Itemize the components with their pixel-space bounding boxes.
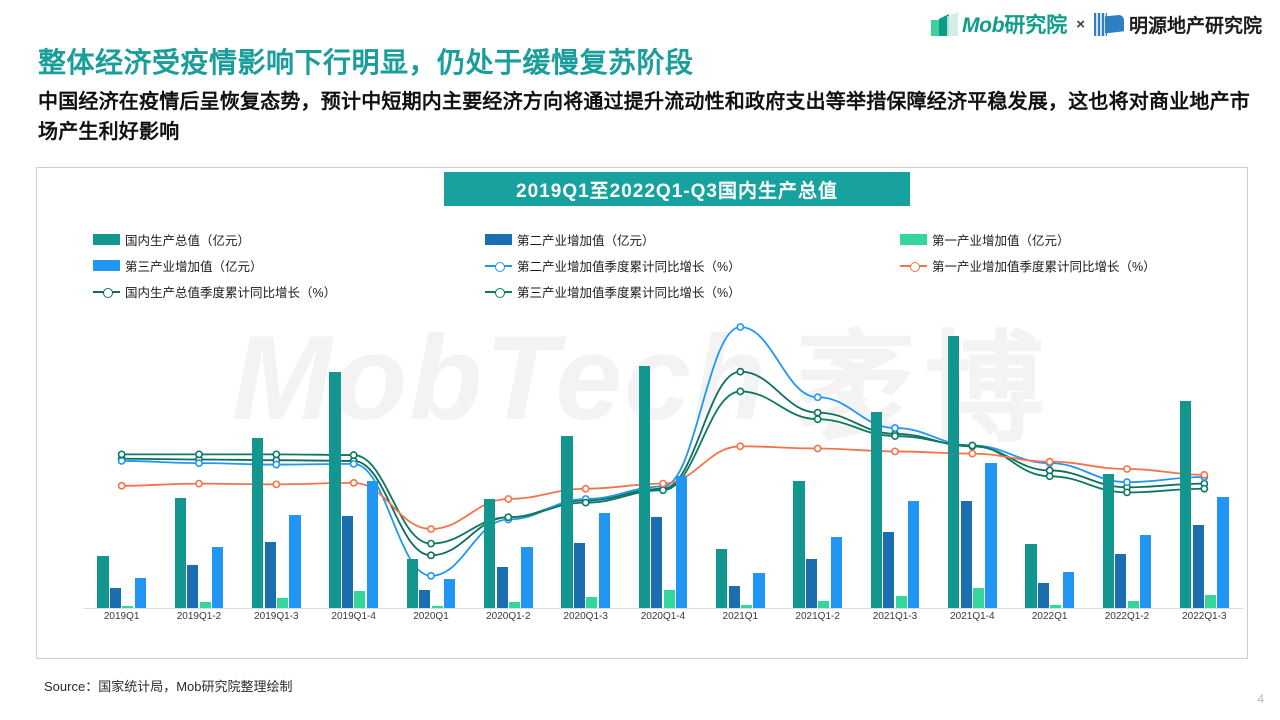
- brand-separator: ×: [1076, 16, 1085, 33]
- bar-2-0: [122, 606, 133, 608]
- legend-line-marker-icon: [93, 286, 120, 297]
- bar-3-3: [367, 481, 378, 608]
- bar-2-5: [509, 602, 520, 608]
- bar-2-12: [1050, 605, 1061, 608]
- legend-item-secondary-bar[interactable]: 第二产业增加值（亿元）: [485, 230, 900, 249]
- bar-0-5: [484, 499, 495, 608]
- line-marker-1-9: [815, 394, 821, 400]
- bar-2-7: [664, 590, 675, 609]
- bar-0-1: [175, 498, 186, 608]
- x-axis-label-7: 2020Q1-4: [624, 611, 701, 622]
- bar-1-14: [1193, 525, 1204, 608]
- bar-2-4: [432, 606, 443, 608]
- bar-2-9: [818, 601, 829, 608]
- bar-2-14: [1205, 595, 1216, 608]
- line-series-1: [122, 327, 1205, 576]
- line-marker-3-8: [737, 443, 743, 449]
- line-marker-1-10: [892, 425, 898, 431]
- bar-2-10: [896, 596, 907, 608]
- x-axis-label-12: 2022Q1: [1011, 611, 1088, 622]
- line-marker-0-9: [815, 410, 821, 416]
- line-marker-2-11: [969, 442, 975, 448]
- line-marker-2-5: [505, 514, 511, 520]
- x-axis-label-11: 2021Q1-4: [934, 611, 1011, 622]
- page-number: 4: [1257, 692, 1264, 706]
- bar-0-9: [793, 481, 804, 608]
- legend-label: 第三产业增加值（亿元）: [125, 256, 263, 275]
- legend-item-primary-bar[interactable]: 第一产业增加值（亿元）: [900, 230, 1235, 249]
- chart-legend: 国内生产总值（亿元） 第二产业增加值（亿元） 第一产业增加值（亿元） 第三产业增…: [55, 230, 1235, 301]
- line-marker-3-2: [273, 481, 279, 487]
- legend-label: 第一产业增加值（亿元）: [932, 230, 1070, 249]
- bar-3-6: [599, 513, 610, 608]
- line-marker-3-3: [351, 480, 357, 486]
- legend-label: 国内生产总值（亿元）: [125, 230, 250, 249]
- bar-0-12: [1025, 544, 1036, 608]
- mingyuan-logo: 明源地产研究院: [1094, 11, 1262, 38]
- legend-swatch-icon: [93, 234, 120, 245]
- line-marker-2-13: [1124, 489, 1130, 495]
- line-marker-1-2: [273, 461, 279, 467]
- legend-swatch-icon: [485, 234, 512, 245]
- bar-1-12: [1038, 583, 1049, 608]
- line-marker-3-10: [892, 448, 898, 454]
- line-marker-3-6: [583, 486, 589, 492]
- line-marker-3-4: [428, 526, 434, 532]
- line-marker-1-13: [1124, 479, 1130, 485]
- bar-1-3: [342, 516, 353, 608]
- bar-1-4: [419, 590, 430, 608]
- legend-item-tertiary-bar[interactable]: 第三产业增加值（亿元）: [55, 256, 485, 275]
- line-marker-2-9: [815, 416, 821, 422]
- chart-baseline: [83, 608, 1243, 609]
- x-axis-label-10: 2021Q1-3: [856, 611, 933, 622]
- legend-label: 第三产业增加值季度累计同比增长（%）: [517, 282, 741, 301]
- bar-3-2: [289, 515, 300, 608]
- bar-1-9: [806, 559, 817, 608]
- legend-label: 第一产业增加值季度累计同比增长（%）: [932, 256, 1156, 275]
- line-marker-2-7: [660, 487, 666, 493]
- line-marker-1-0: [119, 458, 125, 464]
- line-marker-2-4: [428, 541, 434, 547]
- x-axis-label-1: 2019Q1-2: [160, 611, 237, 622]
- line-marker-1-8: [737, 324, 743, 330]
- bar-3-4: [444, 579, 455, 608]
- chart-title-banner: 2019Q1至2022Q1-Q3国内生产总值: [444, 172, 910, 206]
- legend-label: 国内生产总值季度累计同比增长（%）: [125, 282, 336, 301]
- bar-0-6: [561, 436, 572, 608]
- bar-1-13: [1115, 554, 1126, 608]
- legend-label: 第二产业增加值（亿元）: [517, 230, 655, 249]
- bar-0-2: [252, 438, 263, 608]
- bar-0-10: [871, 412, 882, 608]
- line-marker-0-8: [737, 369, 743, 375]
- x-axis-label-0: 2019Q1: [83, 611, 160, 622]
- legend-item-primary-line[interactable]: 第一产业增加值季度累计同比增长（%）: [900, 256, 1235, 275]
- brand-header: Mob研究院 × 明源地产研究院: [931, 8, 1262, 40]
- bar-3-0: [135, 578, 146, 608]
- bar-3-11: [985, 463, 996, 608]
- bar-0-14: [1180, 401, 1191, 608]
- legend-item-gdp-line[interactable]: 国内生产总值季度累计同比增长（%）: [55, 282, 485, 301]
- line-marker-2-2: [273, 451, 279, 457]
- x-axis-label-8: 2021Q1: [702, 611, 779, 622]
- line-marker-3-12: [1047, 459, 1053, 465]
- line-marker-1-3: [351, 461, 357, 467]
- bar-2-13: [1128, 601, 1139, 608]
- bar-1-2: [265, 542, 276, 608]
- x-axis-label-4: 2020Q1: [392, 611, 469, 622]
- line-marker-3-5: [505, 496, 511, 502]
- line-marker-2-8: [737, 388, 743, 394]
- mob-bar-chart-icon: [931, 12, 958, 36]
- bar-2-3: [354, 591, 365, 608]
- bar-0-8: [716, 549, 727, 608]
- source-note: Source：国家统计局，Mob研究院整理绘制: [44, 676, 292, 695]
- legend-item-tertiary-line[interactable]: 第三产业增加值季度累计同比增长（%）: [485, 282, 900, 301]
- bar-1-6: [574, 543, 585, 608]
- line-marker-1-4: [428, 573, 434, 579]
- page-title: 整体经济受疫情影响下行明显，仍处于缓慢复苏阶段: [38, 41, 694, 81]
- bar-2-8: [741, 605, 752, 608]
- line-marker-0-4: [428, 552, 434, 558]
- bar-3-7: [676, 476, 687, 608]
- x-axis-label-9: 2021Q1-2: [779, 611, 856, 622]
- line-series-2: [122, 391, 1205, 543]
- line-marker-3-7: [660, 481, 666, 487]
- x-axis-label-14: 2022Q1-3: [1166, 611, 1243, 622]
- bar-1-1: [187, 565, 198, 608]
- legend-label: 第二产业增加值季度累计同比增长（%）: [517, 256, 741, 275]
- partner-logo-text: 明源地产研究院: [1129, 11, 1262, 38]
- bar-0-3: [329, 372, 340, 608]
- bar-2-1: [200, 602, 211, 608]
- bar-3-14: [1217, 497, 1228, 608]
- legend-line-marker-icon: [485, 260, 512, 271]
- legend-line-marker-icon: [900, 260, 927, 271]
- line-marker-3-9: [815, 445, 821, 451]
- x-axis-label-3: 2019Q1-4: [315, 611, 392, 622]
- bar-0-0: [97, 556, 108, 608]
- x-axis-label-13: 2022Q1-2: [1088, 611, 1165, 622]
- x-axis-label-5: 2020Q1-2: [470, 611, 547, 622]
- line-marker-2-3: [351, 452, 357, 458]
- line-marker-2-12: [1047, 473, 1053, 479]
- mob-logo-text: Mob研究院: [962, 9, 1067, 39]
- bar-2-11: [973, 588, 984, 608]
- bar-1-5: [497, 567, 508, 608]
- bar-3-13: [1140, 535, 1151, 608]
- line-marker-3-1: [196, 481, 202, 487]
- bar-1-11: [961, 501, 972, 608]
- book-stack-icon: [1094, 12, 1124, 37]
- line-marker-3-13: [1124, 466, 1130, 472]
- chart-x-axis: 2019Q12019Q1-22019Q1-32019Q1-42020Q12020…: [83, 611, 1243, 631]
- bar-3-8: [753, 573, 764, 608]
- bar-0-11: [948, 336, 959, 608]
- legend-item-secondary-line[interactable]: 第二产业增加值季度累计同比增长（%）: [485, 256, 900, 275]
- bar-3-10: [908, 501, 919, 608]
- bar-3-5: [521, 547, 532, 608]
- bar-1-8: [729, 586, 740, 608]
- bar-1-0: [110, 588, 121, 608]
- bar-0-4: [407, 559, 418, 608]
- line-marker-1-1: [196, 460, 202, 466]
- bar-2-6: [586, 597, 597, 608]
- legend-item-gdp-bar[interactable]: 国内生产总值（亿元）: [55, 230, 485, 249]
- legend-swatch-icon: [900, 234, 927, 245]
- bar-2-2: [277, 598, 288, 608]
- bar-0-7: [639, 366, 650, 608]
- page-subtitle: 中国经济在疫情后呈恢复态势，预计中短期内主要经济方向将通过提升流动性和政府支出等…: [38, 87, 1253, 147]
- line-marker-3-14: [1201, 472, 1207, 478]
- bar-3-1: [212, 547, 223, 608]
- chart-card: MobTech袤博 2019Q1至2022Q1-Q3国内生产总值 国内生产总值（…: [36, 167, 1248, 659]
- bar-3-9: [831, 537, 842, 608]
- line-marker-3-0: [119, 483, 125, 489]
- bar-1-7: [651, 517, 662, 608]
- x-axis-label-6: 2020Q1-3: [547, 611, 624, 622]
- bar-1-10: [883, 532, 894, 608]
- line-marker-2-14: [1201, 486, 1207, 492]
- line-marker-2-6: [583, 500, 589, 506]
- bar-3-12: [1063, 572, 1074, 608]
- line-marker-2-1: [196, 451, 202, 457]
- mob-research-logo: Mob研究院: [931, 9, 1067, 39]
- legend-line-marker-icon: [485, 286, 512, 297]
- line-marker-3-11: [969, 451, 975, 457]
- legend-swatch-icon: [93, 260, 120, 271]
- bar-0-13: [1103, 474, 1114, 608]
- line-marker-2-10: [892, 433, 898, 439]
- line-marker-2-0: [119, 451, 125, 457]
- x-axis-label-2: 2019Q1-3: [238, 611, 315, 622]
